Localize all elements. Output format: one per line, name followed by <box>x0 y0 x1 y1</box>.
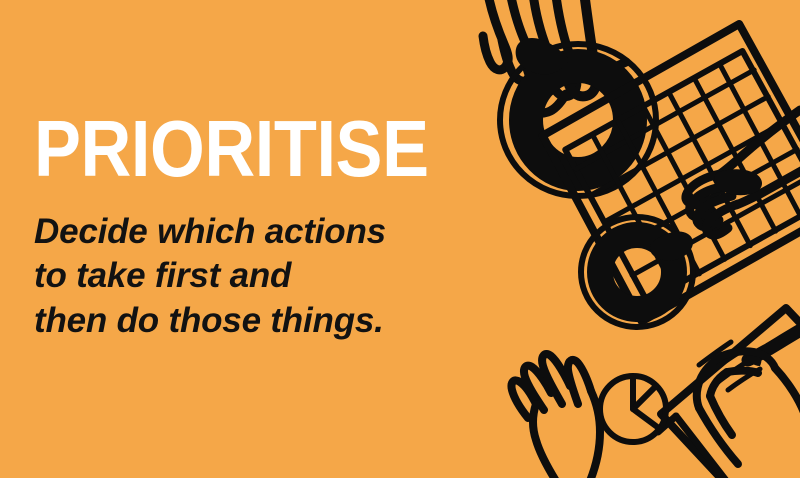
poster-card: PRIORITISE Decide which actions to take … <box>0 0 800 481</box>
page-title: PRIORITISE <box>34 112 439 186</box>
subtitle-text: Decide which actions to take first and t… <box>34 210 494 344</box>
text-block: PRIORITISE Decide which actions to take … <box>34 112 494 344</box>
